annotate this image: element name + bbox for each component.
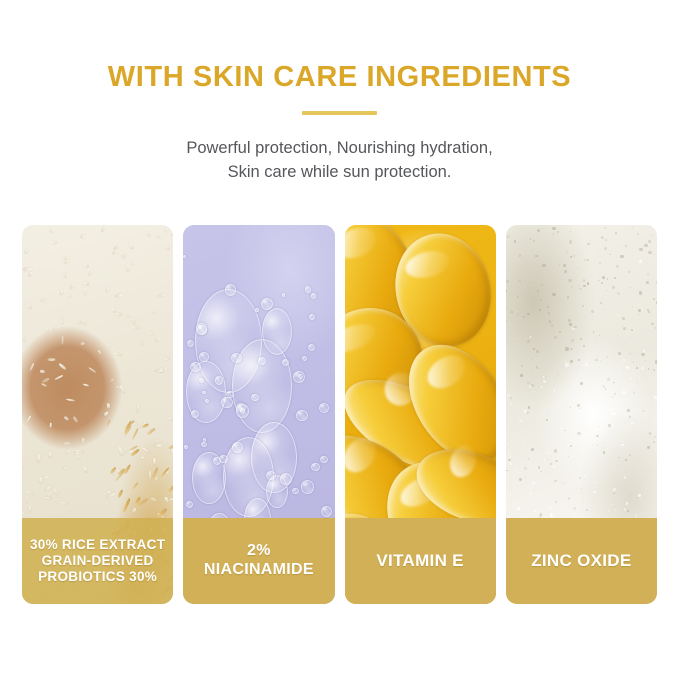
subtitle: Powerful protection, Nourishing hydratio…: [0, 137, 679, 185]
ingredient-label-niacinamide: 2% NIACINAMIDE: [204, 542, 314, 580]
gold-divider-rule: [302, 111, 377, 115]
ingredient-card-zinc-oxide[interactable]: ZINC OXIDE: [506, 225, 657, 604]
page-title: WITH SKIN CARE INGREDIENTS: [0, 62, 679, 94]
ingredient-card-vitamin-e[interactable]: VITAMIN E: [345, 225, 496, 604]
label-band-zinc-oxide: ZINC OXIDE: [506, 518, 657, 604]
ingredient-label-zinc-oxide: ZINC OXIDE: [531, 551, 631, 571]
label-band-niacinamide: 2% NIACINAMIDE: [183, 518, 334, 604]
label-line-2: NIACINAMIDE: [204, 561, 314, 578]
label-line-1: 30% RICE EXTRACT: [30, 537, 165, 552]
label-line-3: PROBIOTICS 30%: [38, 569, 157, 584]
divider-wrapper: [0, 111, 679, 115]
subtitle-line-2: Skin care while sun protection.: [0, 161, 679, 185]
ingredient-card-rice-extract[interactable]: 30% RICE EXTRACT GRAIN-DERIVED PROBIOTIC…: [22, 225, 173, 604]
ingredient-label-rice-extract: 30% RICE EXTRACT GRAIN-DERIVED PROBIOTIC…: [30, 537, 165, 585]
ingredient-label-vitamin-e: VITAMIN E: [376, 551, 463, 571]
label-line-2: GRAIN-DERIVED: [42, 553, 154, 568]
label-line-1: 2%: [247, 542, 271, 559]
label-band-rice-extract: 30% RICE EXTRACT GRAIN-DERIVED PROBIOTIC…: [22, 518, 173, 604]
ingredient-card-niacinamide[interactable]: 2% NIACINAMIDE: [183, 225, 334, 604]
subtitle-line-1: Powerful protection, Nourishing hydratio…: [186, 139, 492, 157]
ingredients-infographic: WITH SKIN CARE INGREDIENTS Powerful prot…: [0, 0, 679, 679]
ingredient-card-row: 30% RICE EXTRACT GRAIN-DERIVED PROBIOTIC…: [22, 225, 657, 604]
label-band-vitamin-e: VITAMIN E: [345, 518, 496, 604]
header: WITH SKIN CARE INGREDIENTS Powerful prot…: [0, 0, 679, 185]
